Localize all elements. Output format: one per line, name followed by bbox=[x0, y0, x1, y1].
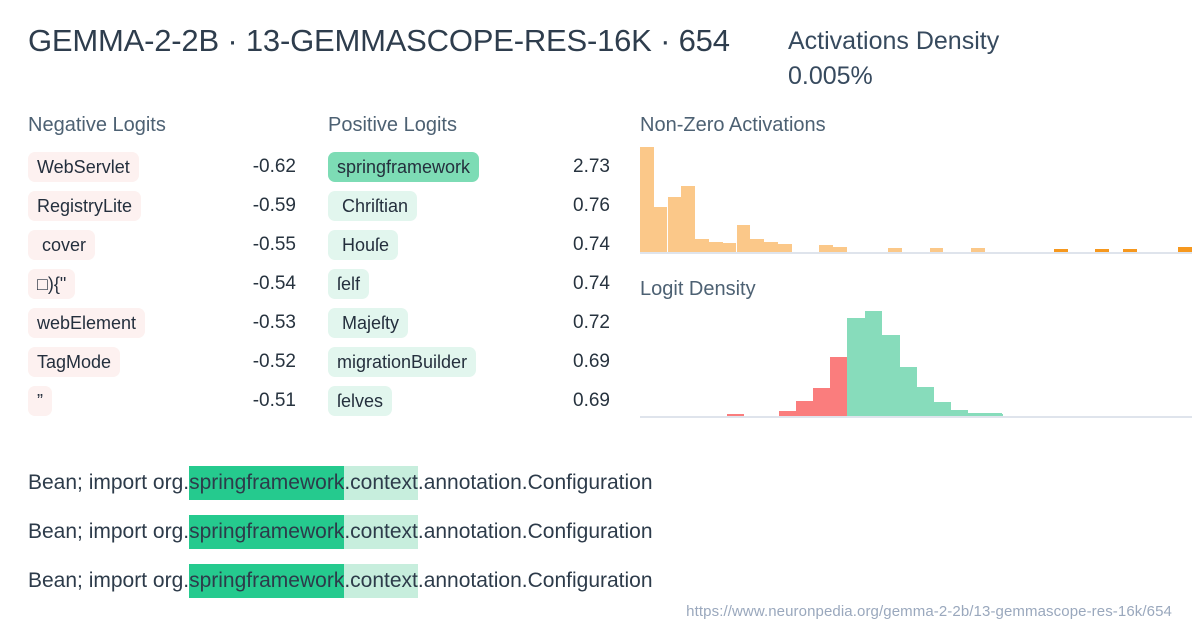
header: GEMMA-2-2B · 13-GEMMASCOPE-RES-16K · 654… bbox=[28, 22, 1172, 94]
positive-logit-row[interactable]: Majeſty 0.72 bbox=[328, 303, 628, 342]
sample-prefix: Bean; import org. bbox=[28, 469, 189, 496]
positive-logit-value: 0.76 bbox=[543, 195, 628, 217]
activations-bar bbox=[695, 239, 709, 252]
activations-bar bbox=[668, 197, 682, 252]
positive-logits-heading: Positive Logits bbox=[328, 112, 628, 138]
negative-logit-value: -0.51 bbox=[243, 390, 328, 412]
sample-row[interactable]: Bean; import org.springframework.context… bbox=[28, 556, 1172, 605]
logit-density-bar bbox=[865, 311, 883, 416]
negative-token-chip: □){" bbox=[28, 269, 75, 299]
non-zero-activations-title: Non-Zero Activations bbox=[640, 112, 1192, 138]
negative-logits-column: Negative Logits WebServlet -0.62 Registr… bbox=[28, 112, 328, 420]
activations-bar bbox=[778, 244, 792, 252]
activations-histogram-bars bbox=[640, 147, 1192, 252]
sample-highlight-light: .context bbox=[344, 515, 418, 549]
negative-token-chip: ” bbox=[28, 386, 52, 416]
negative-logit-value: -0.54 bbox=[243, 273, 328, 295]
sample-suffix: .annotation.Configuration bbox=[418, 469, 653, 496]
activations-bar bbox=[930, 248, 944, 252]
negative-logit-value: -0.53 bbox=[243, 312, 328, 334]
activations-density-label: Activations Density bbox=[788, 24, 1172, 59]
negative-token-chip: cover bbox=[28, 230, 95, 260]
negative-logit-value: -0.55 bbox=[243, 234, 328, 256]
activations-bar bbox=[640, 147, 654, 252]
sample-suffix: .annotation.Configuration bbox=[418, 567, 653, 594]
negative-logits-heading: Negative Logits bbox=[28, 112, 328, 138]
activations-histogram bbox=[640, 147, 1192, 254]
middle-section: Negative Logits WebServlet -0.62 Registr… bbox=[28, 112, 1172, 420]
charts-column: Non-Zero Activations Logit Density bbox=[628, 112, 1192, 418]
negative-logit-row[interactable]: ” -0.51 bbox=[28, 381, 328, 420]
negative-logit-value: -0.59 bbox=[243, 195, 328, 217]
activations-bar bbox=[681, 186, 695, 252]
sample-highlight-light: .context bbox=[344, 564, 418, 598]
logit-density-title: Logit Density bbox=[640, 276, 1192, 302]
negative-logit-row[interactable]: webElement -0.53 bbox=[28, 303, 328, 342]
activations-bar bbox=[654, 207, 668, 252]
positive-logit-value: 2.73 bbox=[543, 156, 628, 178]
sample-highlight-strong: springframework bbox=[189, 466, 344, 500]
logit-density-baseline-tail bbox=[847, 413, 1002, 416]
title-block: GEMMA-2-2B · 13-GEMMASCOPE-RES-16K · 654 bbox=[28, 22, 788, 59]
sample-row[interactable]: Bean; import org.springframework.context… bbox=[28, 507, 1172, 556]
activations-bar bbox=[1054, 249, 1068, 252]
logit-density-histogram bbox=[640, 311, 1192, 418]
positive-token-chip: Chriſtian bbox=[328, 191, 417, 221]
positive-logit-value: 0.69 bbox=[543, 351, 628, 373]
positive-token-chip: ſelf bbox=[328, 269, 369, 299]
positive-logit-row[interactable]: Houſe 0.74 bbox=[328, 225, 628, 264]
positive-token-chip: Houſe bbox=[328, 230, 398, 260]
negative-token-chip: WebServlet bbox=[28, 152, 139, 182]
negative-logit-row[interactable]: TagMode -0.52 bbox=[28, 342, 328, 381]
positive-logit-row[interactable]: migrationBuilder 0.69 bbox=[328, 342, 628, 381]
logit-density-bar bbox=[899, 367, 917, 416]
positive-token-chip: ſelves bbox=[328, 386, 392, 416]
activations-bar bbox=[1178, 247, 1192, 252]
logit-density-bar bbox=[727, 414, 745, 416]
logit-density-chart: Logit Density bbox=[640, 276, 1192, 418]
positive-token-chip: migrationBuilder bbox=[328, 347, 476, 377]
positive-logit-value: 0.74 bbox=[543, 273, 628, 295]
activations-bar bbox=[764, 242, 778, 253]
positive-logit-value: 0.72 bbox=[543, 312, 628, 334]
activations-bar bbox=[1095, 249, 1109, 252]
page-title: GEMMA-2-2B · 13-GEMMASCOPE-RES-16K · 654 bbox=[28, 22, 788, 59]
logit-density-bar bbox=[813, 388, 831, 416]
logit-density-bar bbox=[916, 387, 934, 416]
positive-logit-row[interactable]: Chriſtian 0.76 bbox=[328, 186, 628, 225]
positive-logit-row[interactable]: ſelves 0.69 bbox=[328, 381, 628, 420]
logit-density-bar bbox=[847, 318, 865, 416]
sample-row[interactable]: Bean; import org.springframework.context… bbox=[28, 458, 1172, 507]
source-url[interactable]: https://www.neuronpedia.org/gemma-2-2b/1… bbox=[686, 603, 1172, 620]
negative-logit-value: -0.62 bbox=[243, 156, 328, 178]
negative-logit-row[interactable]: RegistryLite -0.59 bbox=[28, 186, 328, 225]
positive-logit-value: 0.69 bbox=[543, 390, 628, 412]
activations-bar bbox=[723, 243, 737, 252]
negative-token-chip: TagMode bbox=[28, 347, 120, 377]
negative-token-chip: webElement bbox=[28, 308, 145, 338]
activations-bar bbox=[709, 242, 723, 253]
sample-highlight-strong: springframework bbox=[189, 564, 344, 598]
negative-logit-row[interactable]: □){" -0.54 bbox=[28, 264, 328, 303]
positive-token-chip: Majeſty bbox=[328, 308, 408, 338]
activations-bar bbox=[750, 239, 764, 252]
positive-logit-row[interactable]: ſelf 0.74 bbox=[328, 264, 628, 303]
logit-density-histogram-bars bbox=[640, 311, 1192, 416]
non-zero-activations-chart: Non-Zero Activations bbox=[640, 112, 1192, 254]
positive-logit-row[interactable]: springframework 2.73 bbox=[328, 147, 628, 186]
negative-logit-value: -0.52 bbox=[243, 351, 328, 373]
activations-bar bbox=[819, 245, 833, 252]
sample-highlight-light: .context bbox=[344, 466, 418, 500]
sample-highlight-strong: springframework bbox=[189, 515, 344, 549]
sample-suffix: .annotation.Configuration bbox=[418, 518, 653, 545]
activations-bar bbox=[737, 225, 751, 252]
activations-density-value: 0.005% bbox=[788, 59, 1172, 94]
activation-samples: Bean; import org.springframework.context… bbox=[28, 458, 1172, 605]
logit-density-bar bbox=[830, 357, 848, 416]
neuronpedia-feature-card: GEMMA-2-2B · 13-GEMMASCOPE-RES-16K · 654… bbox=[0, 0, 1200, 630]
positive-token-chip: springframework bbox=[328, 152, 479, 182]
activations-bar bbox=[971, 248, 985, 252]
sample-prefix: Bean; import org. bbox=[28, 567, 189, 594]
activations-density-block: Activations Density 0.005% bbox=[788, 22, 1172, 94]
positive-logit-value: 0.74 bbox=[543, 234, 628, 256]
logit-density-bar bbox=[796, 401, 814, 416]
logit-density-bar bbox=[882, 335, 900, 416]
activations-bar bbox=[833, 247, 847, 252]
negative-logit-row[interactable]: WebServlet -0.62 bbox=[28, 147, 328, 186]
activations-bar bbox=[888, 248, 902, 252]
sample-prefix: Bean; import org. bbox=[28, 518, 189, 545]
negative-logit-row[interactable]: cover -0.55 bbox=[28, 225, 328, 264]
activations-bar bbox=[1123, 249, 1137, 252]
positive-logits-column: Positive Logits springframework 2.73 Chr… bbox=[328, 112, 628, 420]
negative-token-chip: RegistryLite bbox=[28, 191, 141, 221]
logit-density-bar bbox=[779, 411, 797, 416]
